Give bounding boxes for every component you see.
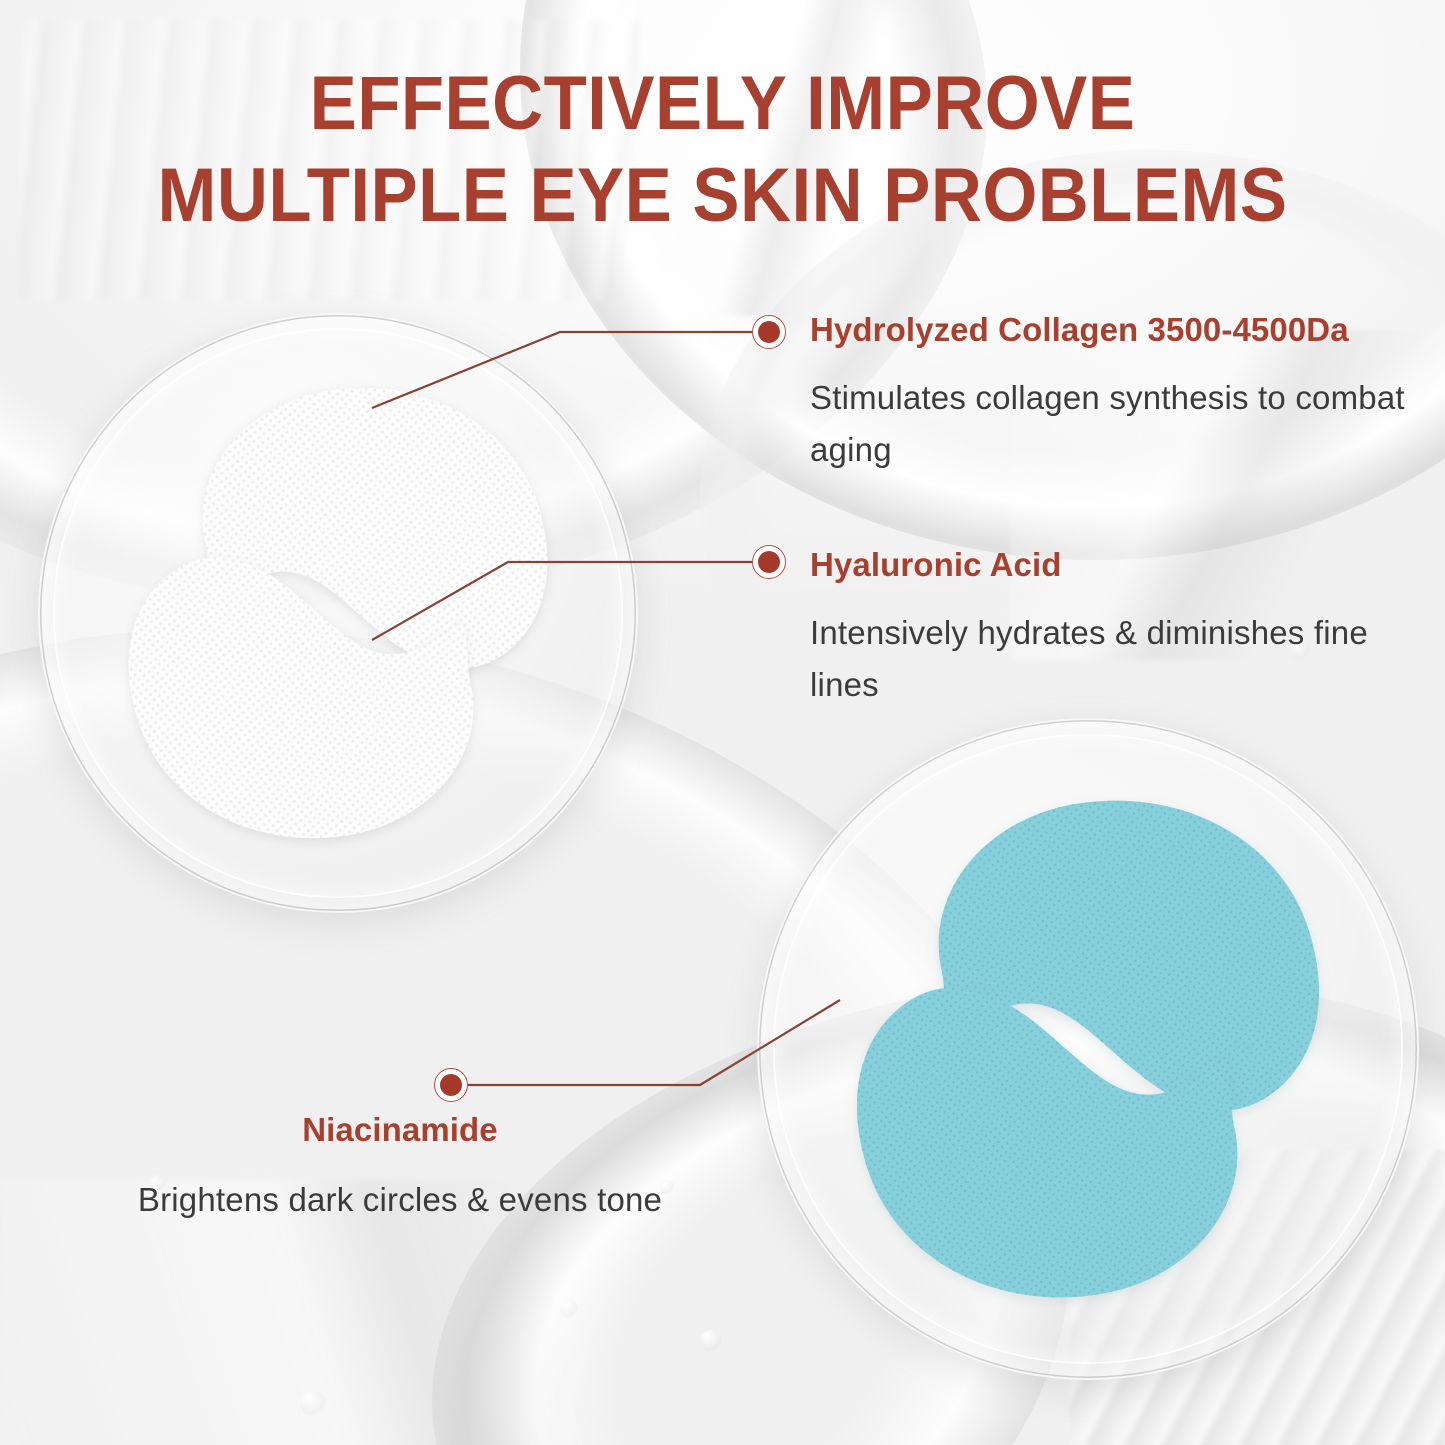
callout-title: Hydrolyzed Collagen 3500-4500Da bbox=[810, 310, 1410, 350]
callout-hyaluronic: Hyaluronic Acid Intensively hydrates & d… bbox=[810, 545, 1410, 711]
callout-collagen: Hydrolyzed Collagen 3500-4500Da Stimulat… bbox=[810, 310, 1410, 476]
callout-title: Niacinamide bbox=[80, 1110, 720, 1150]
page-headline: EFFECTIVELY IMPROVE MULTIPLE EYE SKIN PR… bbox=[51, 58, 1395, 242]
callout-marker-niacinamide[interactable] bbox=[434, 1068, 468, 1102]
callout-body: Intensively hydrates & diminishes fine l… bbox=[810, 607, 1410, 711]
white-patch-group bbox=[38, 313, 638, 913]
eye-patch-lower bbox=[129, 557, 474, 838]
petri-dish-blue bbox=[757, 718, 1419, 1380]
eye-patch-upper bbox=[939, 801, 1319, 1111]
callout-body: Stimulates collagen synthesis to combat … bbox=[810, 372, 1410, 476]
infographic-canvas: EFFECTIVELY IMPROVE MULTIPLE EYE SKIN PR… bbox=[0, 0, 1445, 1445]
callout-marker-hyaluronic[interactable] bbox=[752, 545, 786, 579]
eye-patch-lower bbox=[857, 988, 1237, 1298]
callout-marker-collagen[interactable] bbox=[752, 315, 786, 349]
petri-dish-white bbox=[38, 313, 638, 913]
callout-title: Hyaluronic Acid bbox=[810, 545, 1410, 585]
blue-patch-group bbox=[757, 718, 1419, 1380]
eye-patch-upper bbox=[203, 388, 548, 669]
callout-body: Brightens dark circles & evens tone bbox=[80, 1174, 720, 1226]
callout-niacinamide: Niacinamide Brightens dark circles & eve… bbox=[80, 1110, 720, 1226]
